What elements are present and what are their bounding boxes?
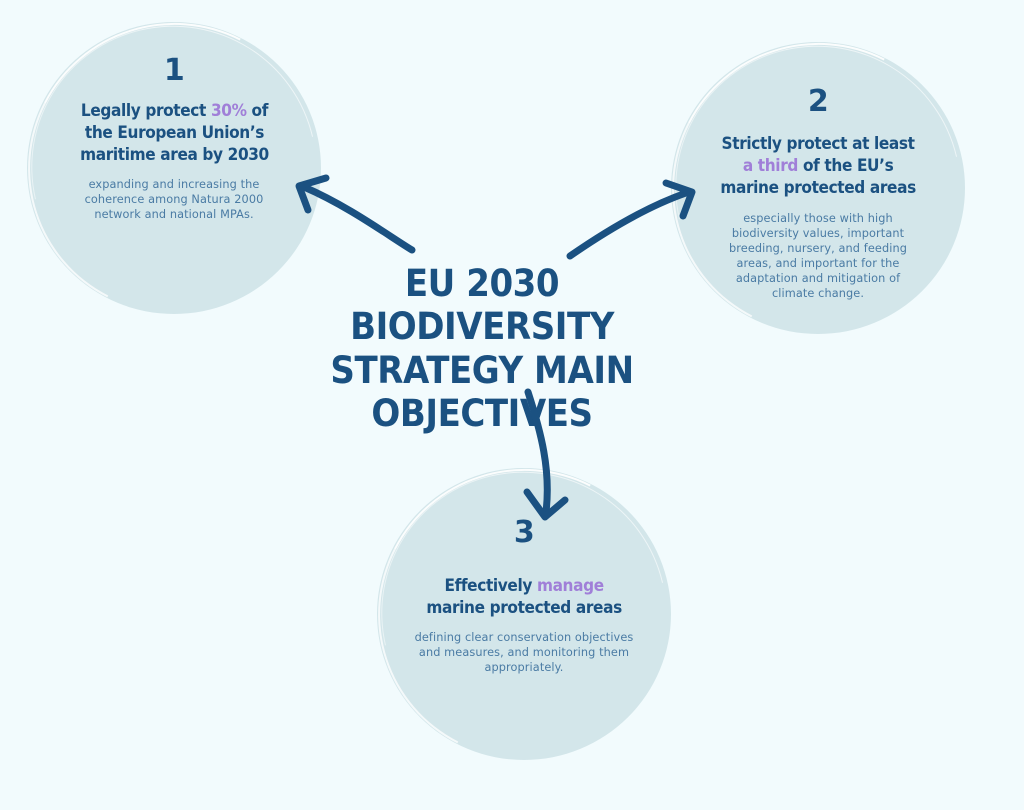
headline-accent-1: 30% <box>210 101 246 120</box>
objective-headline-2: Strictly protect at least a third of the… <box>720 133 915 198</box>
headline-line-3: marine protected areas <box>720 178 915 197</box>
objective-body-2: especially those with high biodiversity … <box>713 211 923 301</box>
objective-number-3: 3 <box>514 518 534 548</box>
main-title-line-3: OBJECTIVES <box>280 392 685 435</box>
objective-body-1: expanding and increasing the coherence a… <box>62 177 286 222</box>
headline-accent-3: manage <box>537 576 604 595</box>
infographic-canvas: 1 Legally protect 30% of the European Un… <box>0 0 1024 768</box>
headline-line-1a: Legally protect <box>80 101 210 120</box>
objective-headline-3: Effectively manage marine protected area… <box>426 575 621 619</box>
objective-circle-2: 2 Strictly protect at least a third of t… <box>671 42 965 334</box>
headline-line-1: Strictly protect at least <box>721 134 914 153</box>
objective-number-1: 1 <box>164 56 184 86</box>
objective-headline-1: Legally protect 30% of the European Unio… <box>80 100 269 165</box>
headline-line-3: maritime area by 2030 <box>80 145 269 164</box>
main-title: EU 2030 BIODIVERSITY STRATEGY MAIN OBJEC… <box>280 262 685 435</box>
headline-accent-2: a third <box>743 156 798 175</box>
main-title-line-2: STRATEGY MAIN <box>280 349 685 392</box>
headline-line-2b: of the EU’s <box>798 156 893 175</box>
headline-line-1c: of <box>246 101 267 120</box>
headline-line-2: marine protected areas <box>426 598 621 617</box>
main-title-line-1: EU 2030 BIODIVERSITY <box>280 262 685 349</box>
headline-line-1a: Effectively <box>444 576 536 595</box>
headline-line-2: the European Union’s <box>84 123 263 142</box>
objective-number-2: 2 <box>808 87 828 117</box>
objective-body-3: defining clear conservation objectives a… <box>411 630 637 675</box>
objective-circle-3: 3 Effectively manage marine protected ar… <box>377 468 671 760</box>
objective-circle-1: 1 Legally protect 30% of the European Un… <box>27 22 321 314</box>
